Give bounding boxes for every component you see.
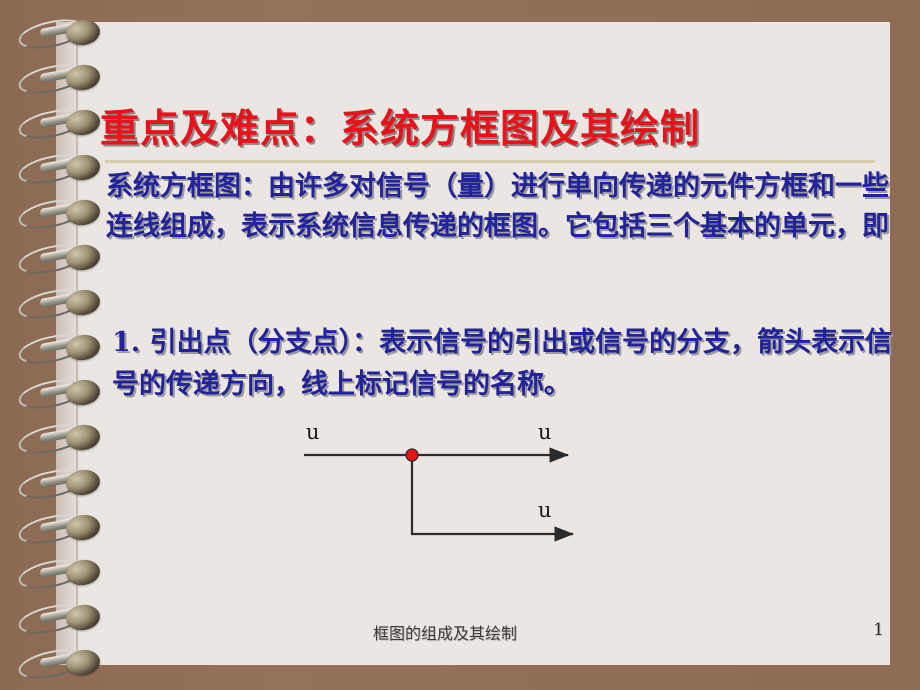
spiral-ring-icon — [18, 558, 100, 588]
spiral-ring-icon — [18, 648, 100, 678]
spiral-ring-icon — [18, 468, 100, 498]
diagram-label-output-top-u: u — [538, 420, 552, 444]
spiral-ring-icon — [18, 243, 100, 273]
spiral-ring-icon — [18, 108, 100, 138]
spiral-ring-icon — [18, 378, 100, 408]
definition-paragraph: 系统方框图：由许多对信号（量）进行单向传递的元件方框和一些连线组成，表示系统信息… — [106, 167, 896, 247]
page-number: 1 — [860, 620, 884, 640]
spiral-ring-icon — [18, 63, 100, 93]
spiral-ring-icon — [18, 333, 100, 363]
diagram-label-input-u: u — [306, 420, 320, 444]
spiral-ring-icon — [18, 18, 100, 48]
slide-title: 重点及难点：系统方框图及其绘制 — [100, 98, 880, 154]
spiral-ring-icon — [18, 423, 100, 453]
title-divider — [105, 160, 875, 163]
slide-footer: 框图的组成及其绘制 — [0, 620, 890, 644]
spiral-ring-icon — [18, 198, 100, 228]
spiral-ring-icon — [18, 513, 100, 543]
spiral-ring-icon — [18, 153, 100, 183]
diagram-label-output-bottom-u: u — [538, 498, 552, 522]
presentation-slide: 重点及难点：系统方框图及其绘制 系统方框图：由许多对信号（量）进行单向传递的元件… — [0, 0, 920, 690]
branch-point-paragraph: 1. 引出点（分支点）：表示信号的引出或信号的分支，箭头表示信号的传递方向，线上… — [112, 322, 902, 406]
spiral-ring-icon — [18, 288, 100, 318]
